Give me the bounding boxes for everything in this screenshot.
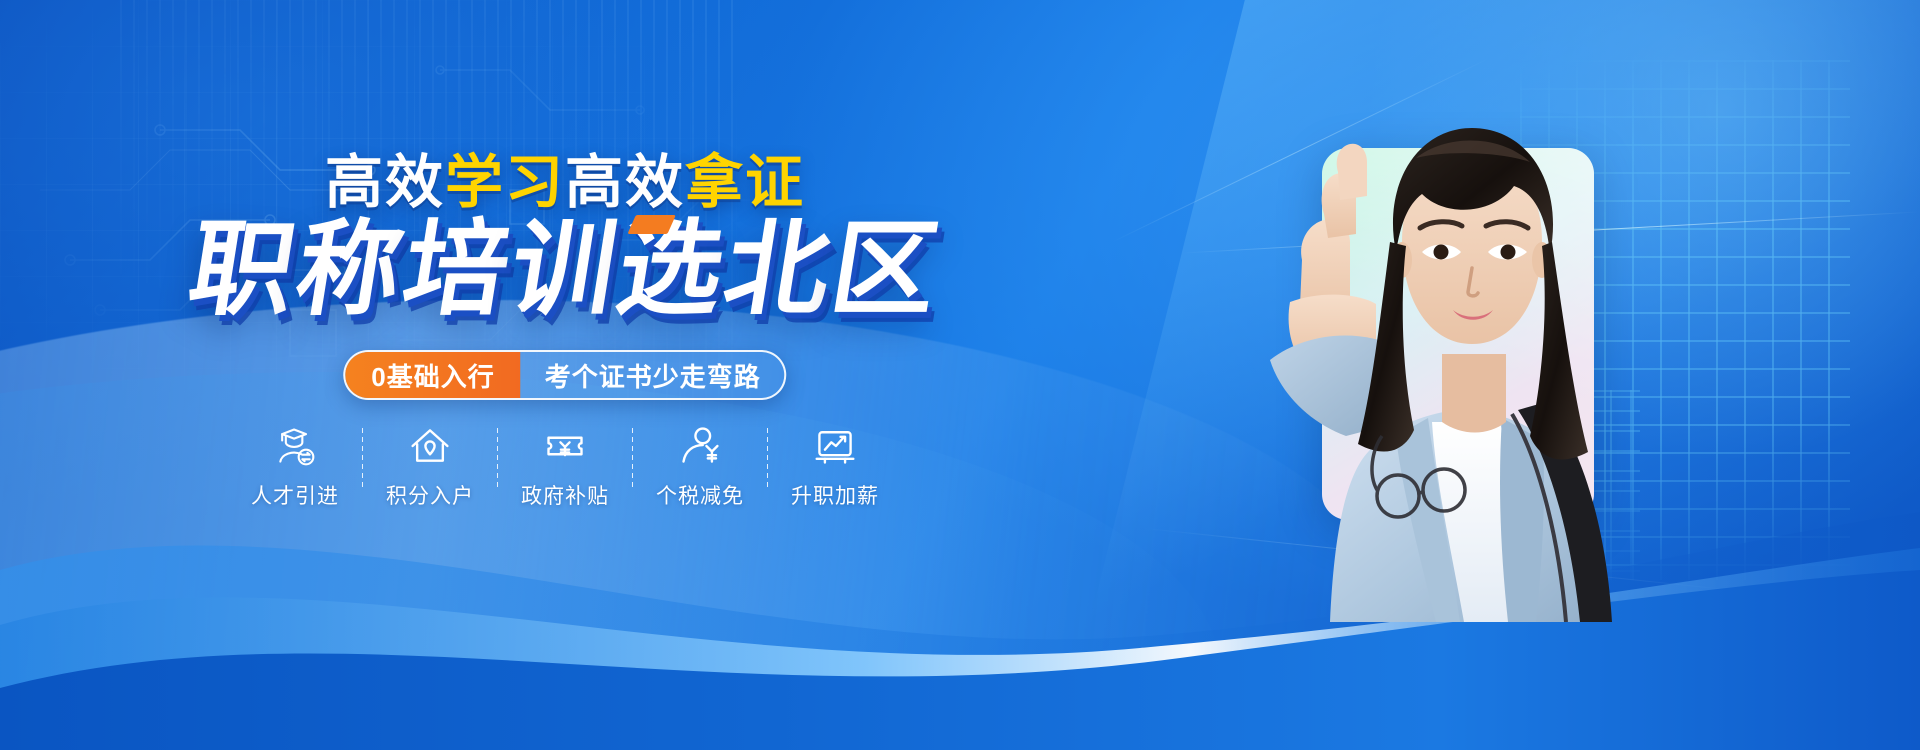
badge-secondary-label: 考个证书少走弯路 bbox=[521, 352, 785, 398]
eyebrow-part-4: 拿证 bbox=[685, 150, 805, 215]
headline-char-accent: 选 bbox=[610, 218, 733, 322]
feature-list: 人才引进 积分入户 政府补贴 bbox=[228, 424, 902, 510]
graduate-talent-icon bbox=[273, 424, 317, 468]
headline-char: 培 bbox=[396, 218, 519, 322]
chart-board-icon bbox=[813, 424, 857, 468]
home-location-icon bbox=[408, 424, 452, 468]
headline-char: 训 bbox=[503, 218, 626, 322]
badge-primary-label: 0基础入行 bbox=[345, 352, 520, 398]
feature-item-subsidy[interactable]: 政府补贴 bbox=[498, 424, 632, 510]
main-headline: 职称培训选北区 bbox=[182, 218, 948, 322]
instructor-portrait bbox=[1250, 92, 1680, 622]
feature-item-talent[interactable]: 人才引进 bbox=[228, 424, 362, 510]
feature-label: 积分入户 bbox=[386, 480, 474, 510]
feature-label: 个税减免 bbox=[656, 480, 744, 510]
feature-label: 升职加薪 bbox=[791, 480, 879, 510]
feature-item-residency[interactable]: 积分入户 bbox=[363, 424, 497, 510]
headline-char: 职 bbox=[182, 218, 305, 322]
headline-char: 称 bbox=[289, 218, 412, 322]
promo-banner: 高效学习高效拿证 职称培训选北区 0基础入行 考个证书少走弯路 人才 bbox=[0, 0, 1920, 750]
eyebrow-part-3: 高效 bbox=[565, 150, 685, 215]
banner-copy: 高效学习高效拿证 职称培训选北区 0基础入行 考个证书少走弯路 人才 bbox=[0, 0, 1130, 750]
subhead-badge[interactable]: 0基础入行 考个证书少走弯路 bbox=[343, 350, 786, 400]
eyebrow-part-1: 高效 bbox=[325, 150, 445, 215]
person-yuan-icon bbox=[678, 424, 722, 468]
feature-label: 人才引进 bbox=[251, 480, 339, 510]
feature-item-promotion[interactable]: 升职加薪 bbox=[768, 424, 902, 510]
eyebrow-headline: 高效学习高效拿证 bbox=[325, 154, 805, 212]
headline-char: 区 bbox=[824, 218, 947, 322]
headline-char: 北 bbox=[717, 218, 840, 322]
feature-label: 政府补贴 bbox=[521, 480, 609, 510]
feature-item-tax[interactable]: 个税减免 bbox=[633, 424, 767, 510]
eyebrow-part-2: 学习 bbox=[445, 150, 565, 215]
ticket-yuan-icon bbox=[543, 424, 587, 468]
